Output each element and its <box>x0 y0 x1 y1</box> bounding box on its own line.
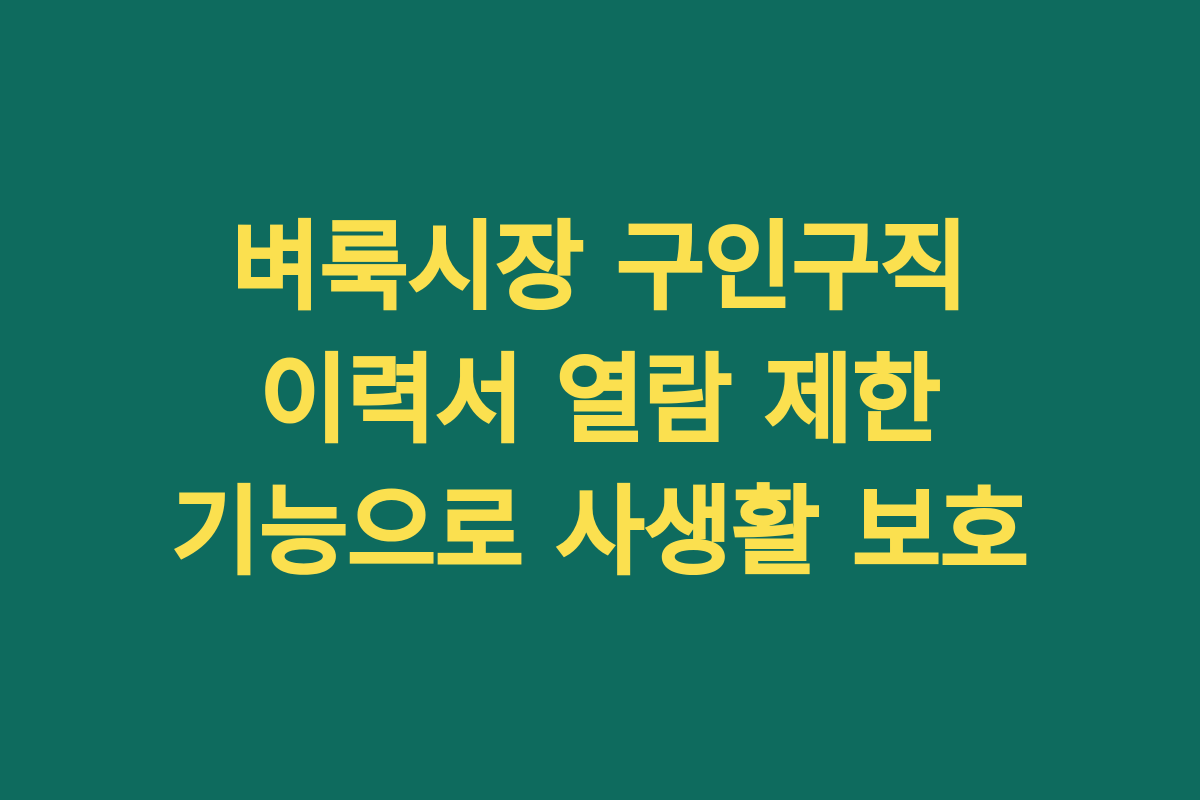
page-title: 벼룩시장 구인구직 이력서 열람 제한 기능으로 사생활 보호 <box>96 201 1104 598</box>
title-card: 벼룩시장 구인구직 이력서 열람 제한 기능으로 사생활 보호 <box>0 0 1200 800</box>
headline-block: 벼룩시장 구인구직 이력서 열람 제한 기능으로 사생활 보호 <box>96 201 1104 598</box>
